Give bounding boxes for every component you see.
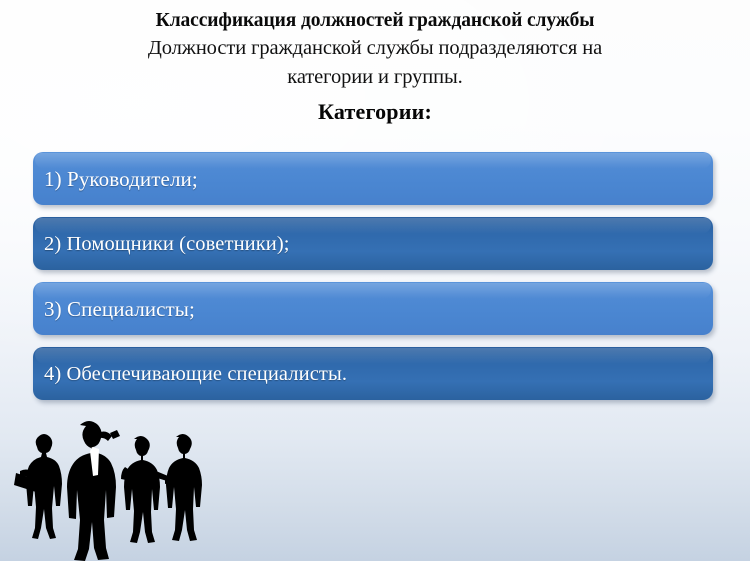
category-label-4: 4) Обеспечивающие специалисты. xyxy=(33,362,347,386)
category-list: 1) Руководители; 2) Помощники (советники… xyxy=(33,152,713,412)
category-item-4[interactable]: 4) Обеспечивающие специалисты. xyxy=(33,347,713,400)
category-item-3[interactable]: 3) Специалисты; xyxy=(33,282,713,335)
category-item-1[interactable]: 1) Руководители; xyxy=(33,152,713,205)
business-people-silhouette-icon xyxy=(8,411,218,561)
page-title: Классификация должностей гражданской слу… xyxy=(0,8,750,34)
subtitle-line-2: категории и группы. xyxy=(0,63,750,92)
category-label-1: 1) Руководители; xyxy=(33,167,198,191)
category-item-2[interactable]: 2) Помощники (советники); xyxy=(33,217,713,270)
subtitle-line-1: Должности гражданской службы подразделяю… xyxy=(0,34,750,63)
slide-canvas: Классификация должностей гражданской слу… xyxy=(0,0,750,561)
slide-header: Классификация должностей гражданской слу… xyxy=(0,8,750,126)
category-label-2: 2) Помощники (советники); xyxy=(33,232,290,256)
section-heading-categories: Категории: xyxy=(0,98,750,126)
category-label-3: 3) Специалисты; xyxy=(33,297,195,321)
